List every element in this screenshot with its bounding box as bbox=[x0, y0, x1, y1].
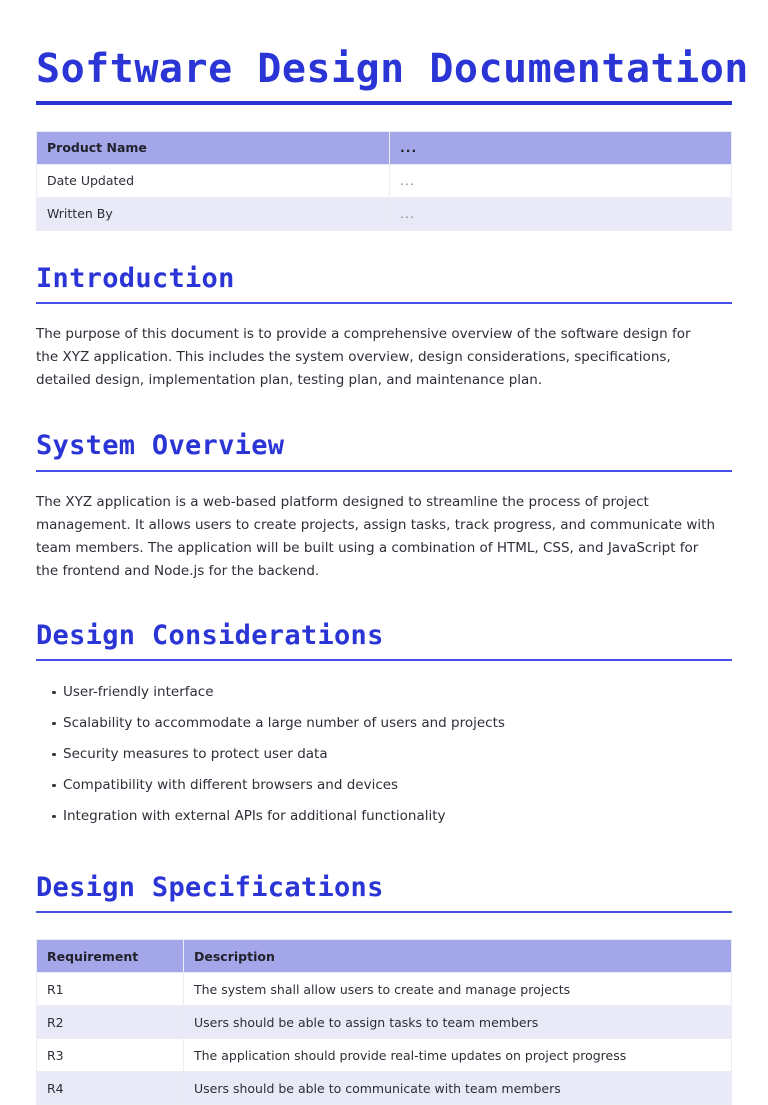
info-label-written-by: Written By bbox=[37, 197, 390, 230]
section-design-considerations: Design Considerations User-friendly inte… bbox=[36, 620, 732, 832]
list-item: User-friendly interface bbox=[36, 677, 732, 708]
section-heading-introduction: Introduction bbox=[36, 263, 732, 295]
requirement-description: Users should be able to assign tasks to … bbox=[184, 1006, 732, 1039]
title-underline bbox=[36, 101, 732, 105]
column-header-description: Description bbox=[184, 940, 732, 973]
table-row: R3 The application should provide real-t… bbox=[37, 1039, 732, 1072]
info-label-date-updated: Date Updated bbox=[37, 164, 390, 197]
section-heading-design-specifications: Design Specifications bbox=[36, 872, 732, 904]
paragraph-introduction: The purpose of this document is to provi… bbox=[36, 304, 716, 392]
list-item: Compatibility with different browsers an… bbox=[36, 770, 732, 801]
document-page: Software Design Documentation Product Na… bbox=[0, 0, 768, 1056]
table-row: Product Name ... bbox=[37, 131, 732, 164]
table-row: Date Updated ... bbox=[37, 164, 732, 197]
design-specifications-table: Requirement Description R1 The system sh… bbox=[36, 939, 732, 1105]
section-heading-design-considerations: Design Considerations bbox=[36, 620, 732, 652]
table-header-row: Requirement Description bbox=[37, 940, 732, 973]
document-info-table: Product Name ... Date Updated ... Writte… bbox=[36, 131, 732, 231]
requirement-id: R1 bbox=[37, 973, 184, 1006]
requirement-id: R4 bbox=[37, 1072, 184, 1105]
section-design-specifications: Design Specifications Requirement Descri… bbox=[36, 872, 732, 1105]
table-row: Written By ... bbox=[37, 197, 732, 230]
info-value-date-updated[interactable]: ... bbox=[390, 164, 732, 197]
design-considerations-list: User-friendly interface Scalability to a… bbox=[36, 661, 732, 832]
paragraph-system-overview: The XYZ application is a web-based platf… bbox=[36, 472, 716, 583]
column-header-requirement: Requirement bbox=[37, 940, 184, 973]
table-row: R2 Users should be able to assign tasks … bbox=[37, 1006, 732, 1039]
page-title: Software Design Documentation bbox=[36, 0, 732, 92]
section-system-overview: System Overview The XYZ application is a… bbox=[36, 430, 732, 582]
requirement-id: R3 bbox=[37, 1039, 184, 1072]
requirement-description: The system shall allow users to create a… bbox=[184, 973, 732, 1006]
info-value-written-by[interactable]: ... bbox=[390, 197, 732, 230]
info-value-product-name[interactable]: ... bbox=[390, 131, 732, 164]
requirement-id: R2 bbox=[37, 1006, 184, 1039]
list-item: Scalability to accommodate a large numbe… bbox=[36, 708, 732, 739]
requirement-description: Users should be able to communicate with… bbox=[184, 1072, 732, 1105]
section-introduction: Introduction The purpose of this documen… bbox=[36, 263, 732, 392]
info-label-product-name: Product Name bbox=[37, 131, 390, 164]
requirement-description: The application should provide real-time… bbox=[184, 1039, 732, 1072]
list-item: Integration with external APIs for addit… bbox=[36, 801, 732, 832]
list-item: Security measures to protect user data bbox=[36, 739, 732, 770]
table-row: R4 Users should be able to communicate w… bbox=[37, 1072, 732, 1105]
table-row: R1 The system shall allow users to creat… bbox=[37, 973, 732, 1006]
section-underline bbox=[36, 911, 732, 913]
section-heading-system-overview: System Overview bbox=[36, 430, 732, 462]
